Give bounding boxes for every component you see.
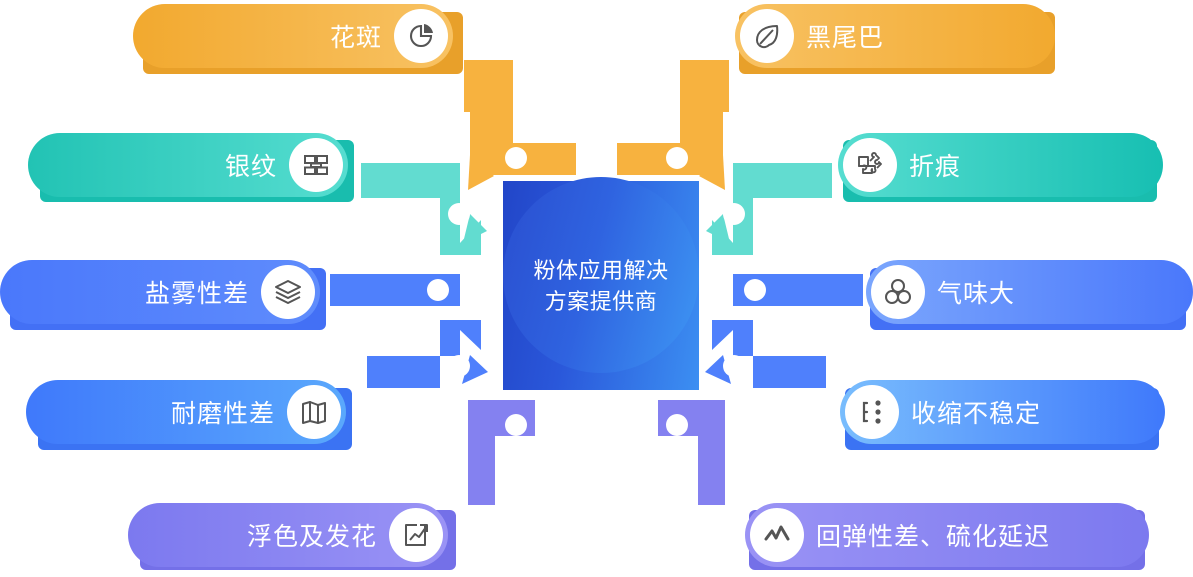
pill-yanwu[interactable]: 盐雾性差 <box>0 260 320 324</box>
pill-qiwei[interactable]: 气味大 <box>866 260 1193 324</box>
pill-label-huitan: 回弹性差、硫化延迟 <box>816 517 1050 553</box>
recycle-icon <box>871 265 925 319</box>
line-chart-icon <box>750 508 804 562</box>
pill-label-heiweiba: 黑尾巴 <box>806 18 884 54</box>
pill-huaban[interactable]: 花斑 <box>133 4 453 68</box>
pill-shousuo[interactable]: 收缩不稳定 <box>840 380 1165 444</box>
pill-label-yinwen: 银纹 <box>225 147 277 183</box>
pill-label-shousuo: 收缩不稳定 <box>911 394 1041 430</box>
pill-yinwen[interactable]: 银纹 <box>28 133 348 197</box>
layers-icon <box>261 265 315 319</box>
pill-naimo[interactable]: 耐磨性差 <box>26 380 346 444</box>
pill-label-huaban: 花斑 <box>330 18 382 54</box>
hub-title: 粉体应用解决 方案提供商 <box>503 181 699 390</box>
book-icon <box>287 385 341 439</box>
hub-title-line1: 粉体应用解决 <box>533 255 668 286</box>
puzzle-icon <box>843 138 897 192</box>
leaf-icon <box>740 9 794 63</box>
pill-label-naimo: 耐磨性差 <box>171 394 275 430</box>
sitemap-icon <box>845 385 899 439</box>
trend-up-icon <box>389 508 443 562</box>
pill-label-qiwei: 气味大 <box>937 274 1015 310</box>
pill-heiweiba[interactable]: 黑尾巴 <box>735 4 1055 68</box>
pill-label-fuse: 浮色及发花 <box>247 517 377 553</box>
pie-chart-icon <box>394 9 448 63</box>
pill-huitan[interactable]: 回弹性差、硫化延迟 <box>745 503 1149 567</box>
hub-title-line2: 方案提供商 <box>533 286 668 317</box>
infographic-canvas: 粉体应用解决 方案提供商 花斑 银纹 盐雾性差 <box>0 0 1193 577</box>
pill-label-zhehen: 折痕 <box>909 147 961 183</box>
pill-zhehen[interactable]: 折痕 <box>838 133 1163 197</box>
pill-label-yanwu: 盐雾性差 <box>145 274 249 310</box>
brick-wall-icon <box>289 138 343 192</box>
pill-fuse[interactable]: 浮色及发花 <box>128 503 448 567</box>
center-hub: 粉体应用解决 方案提供商 <box>503 181 699 390</box>
